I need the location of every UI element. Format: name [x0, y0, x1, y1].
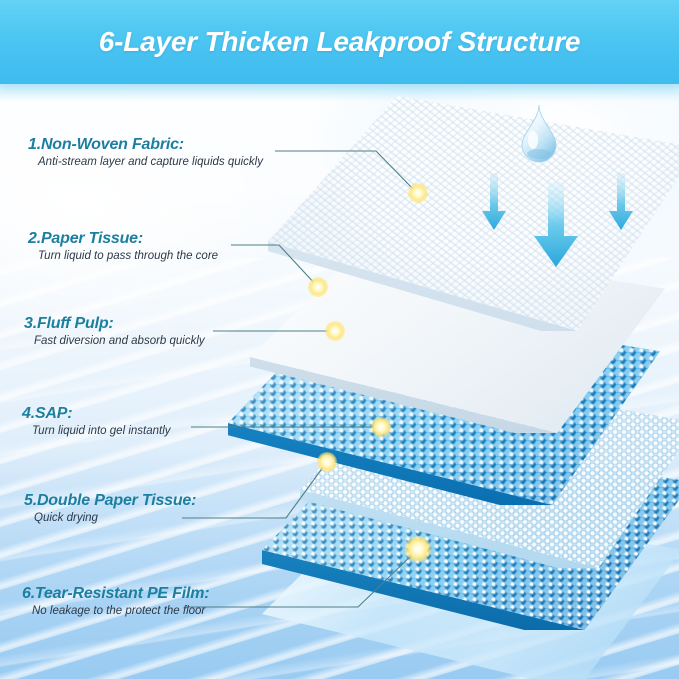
callout-3-subtitle: Fast diversion and absorb quickly: [34, 335, 205, 349]
callout-1-subtitle: Anti-stream layer and capture liquids qu…: [38, 156, 263, 170]
callout-3: 3.Fluff Pulp: Fast diversion and absorb …: [24, 315, 205, 349]
highlight-dot-2: [308, 277, 328, 297]
callout-2-subtitle: Turn liquid to pass through the core: [38, 250, 218, 264]
callout-4: 4.SAP: Turn liquid into gel instantly: [22, 405, 171, 439]
highlight-dot-5: [317, 452, 337, 472]
callout-5-subtitle: Quick drying: [34, 512, 196, 526]
highlight-dot-1: [408, 183, 428, 203]
callout-2-title: 2.Paper Tissue:: [28, 230, 218, 248]
down-arrow-right-icon: [608, 173, 634, 233]
callout-5-title: 5.Double Paper Tissue:: [24, 492, 196, 510]
down-arrow-left-icon: [481, 173, 507, 233]
down-arrow-center-icon: [533, 182, 579, 270]
callout-1: 1.Non-Woven Fabric: Anti-stream layer an…: [28, 136, 263, 170]
highlight-dot-3: [325, 321, 345, 341]
callout-1-title: 1.Non-Woven Fabric:: [28, 136, 263, 154]
callout-6-subtitle: No leakage to the protect the floor: [32, 605, 209, 619]
highlight-dot-6: [405, 536, 431, 562]
water-droplet-icon: [516, 104, 562, 166]
callout-5: 5.Double Paper Tissue: Quick drying: [24, 492, 196, 526]
callout-6-title: 6.Tear-Resistant PE Film:: [22, 585, 209, 603]
highlight-dot-4: [371, 417, 391, 437]
callout-4-subtitle: Turn liquid into gel instantly: [32, 425, 171, 439]
callout-6: 6.Tear-Resistant PE Film: No leakage to …: [22, 585, 209, 619]
callout-2: 2.Paper Tissue: Turn liquid to pass thro…: [28, 230, 218, 264]
callout-3-title: 3.Fluff Pulp:: [24, 315, 205, 333]
infographic-root: 6-Layer Thicken Leakproof Structure: [0, 0, 679, 679]
callout-4-title: 4.SAP:: [22, 405, 171, 423]
